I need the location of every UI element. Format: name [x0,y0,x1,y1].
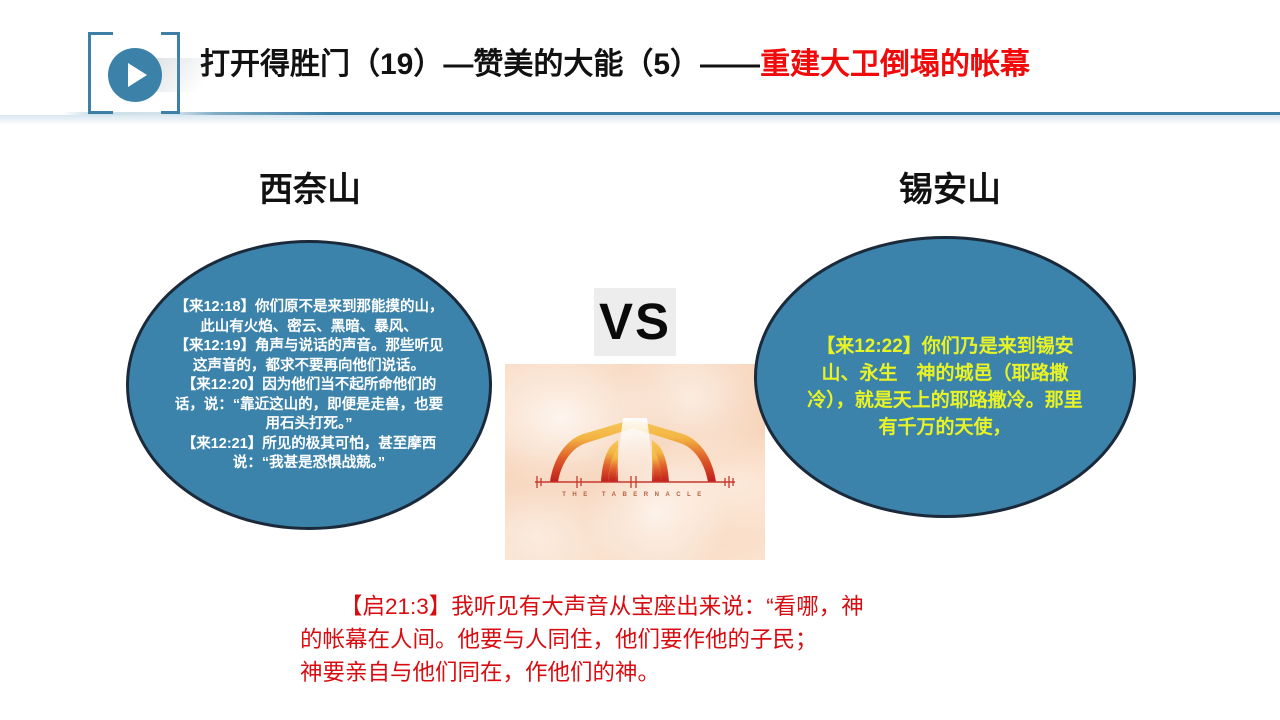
title-rule-glow [0,115,1280,125]
play-triangle-icon [128,63,147,87]
title-divider [0,112,1280,115]
vs-badge: VS [594,288,676,356]
tabernacle-graphic-icon [505,364,765,560]
bottom-scripture-line-1: 【启21:3】我听见有大声音从宝座出来说：“看哪，神 [340,594,864,619]
heading-mount-sinai: 西奈山 [190,168,430,212]
ellipse-zion: 【来12:22】你们乃是来到锡安山、永生 神的城邑（耶路撒冷），就是天上的耶路撒… [754,236,1136,518]
ellipse-sinai: 【来12:18】你们原不是来到那能摸的山，此山有火焰、密云、黑暗、暴风、【来12… [126,240,492,530]
ellipse-sinai-text: 【来12:18】你们原不是来到那能摸的山，此山有火焰、密云、黑暗、暴风、【来12… [169,298,449,474]
heading-mount-zion: 锡安山 [830,168,1070,212]
play-icon[interactable] [108,48,162,102]
bottom-scripture: 【启21:3】我听见有大声音从宝座出来说：“看哪，神 的帐幕在人间。他要与人同住… [300,590,1000,689]
tabernacle-illustration: THE TABERNACLE [505,364,765,560]
bottom-scripture-line-3: 神要亲自与他们同在，作他们的神。 [300,656,1000,689]
bottom-scripture-line-2: 的帐幕在人间。他要与人同住，他们要作他的子民； [300,623,1000,656]
slide-canvas: 打开得胜门（19）—赞美的大能（5）——重建大卫倒塌的帐幕 西奈山 锡安山 【来… [0,0,1280,720]
page-title-main: 打开得胜门（19）—赞美的大能（5）—— [200,48,760,81]
page-title: 打开得胜门（19）—赞美的大能（5）——重建大卫倒塌的帐幕 [200,45,1030,85]
ellipse-zion-text: 【来12:22】你们乃是来到锡安山、永生 神的城邑（耶路撒冷），就是天上的耶路撒… [800,333,1090,441]
tabernacle-caption: THE TABERNACLE [505,492,765,498]
page-title-accent: 重建大卫倒塌的帐幕 [760,48,1030,81]
